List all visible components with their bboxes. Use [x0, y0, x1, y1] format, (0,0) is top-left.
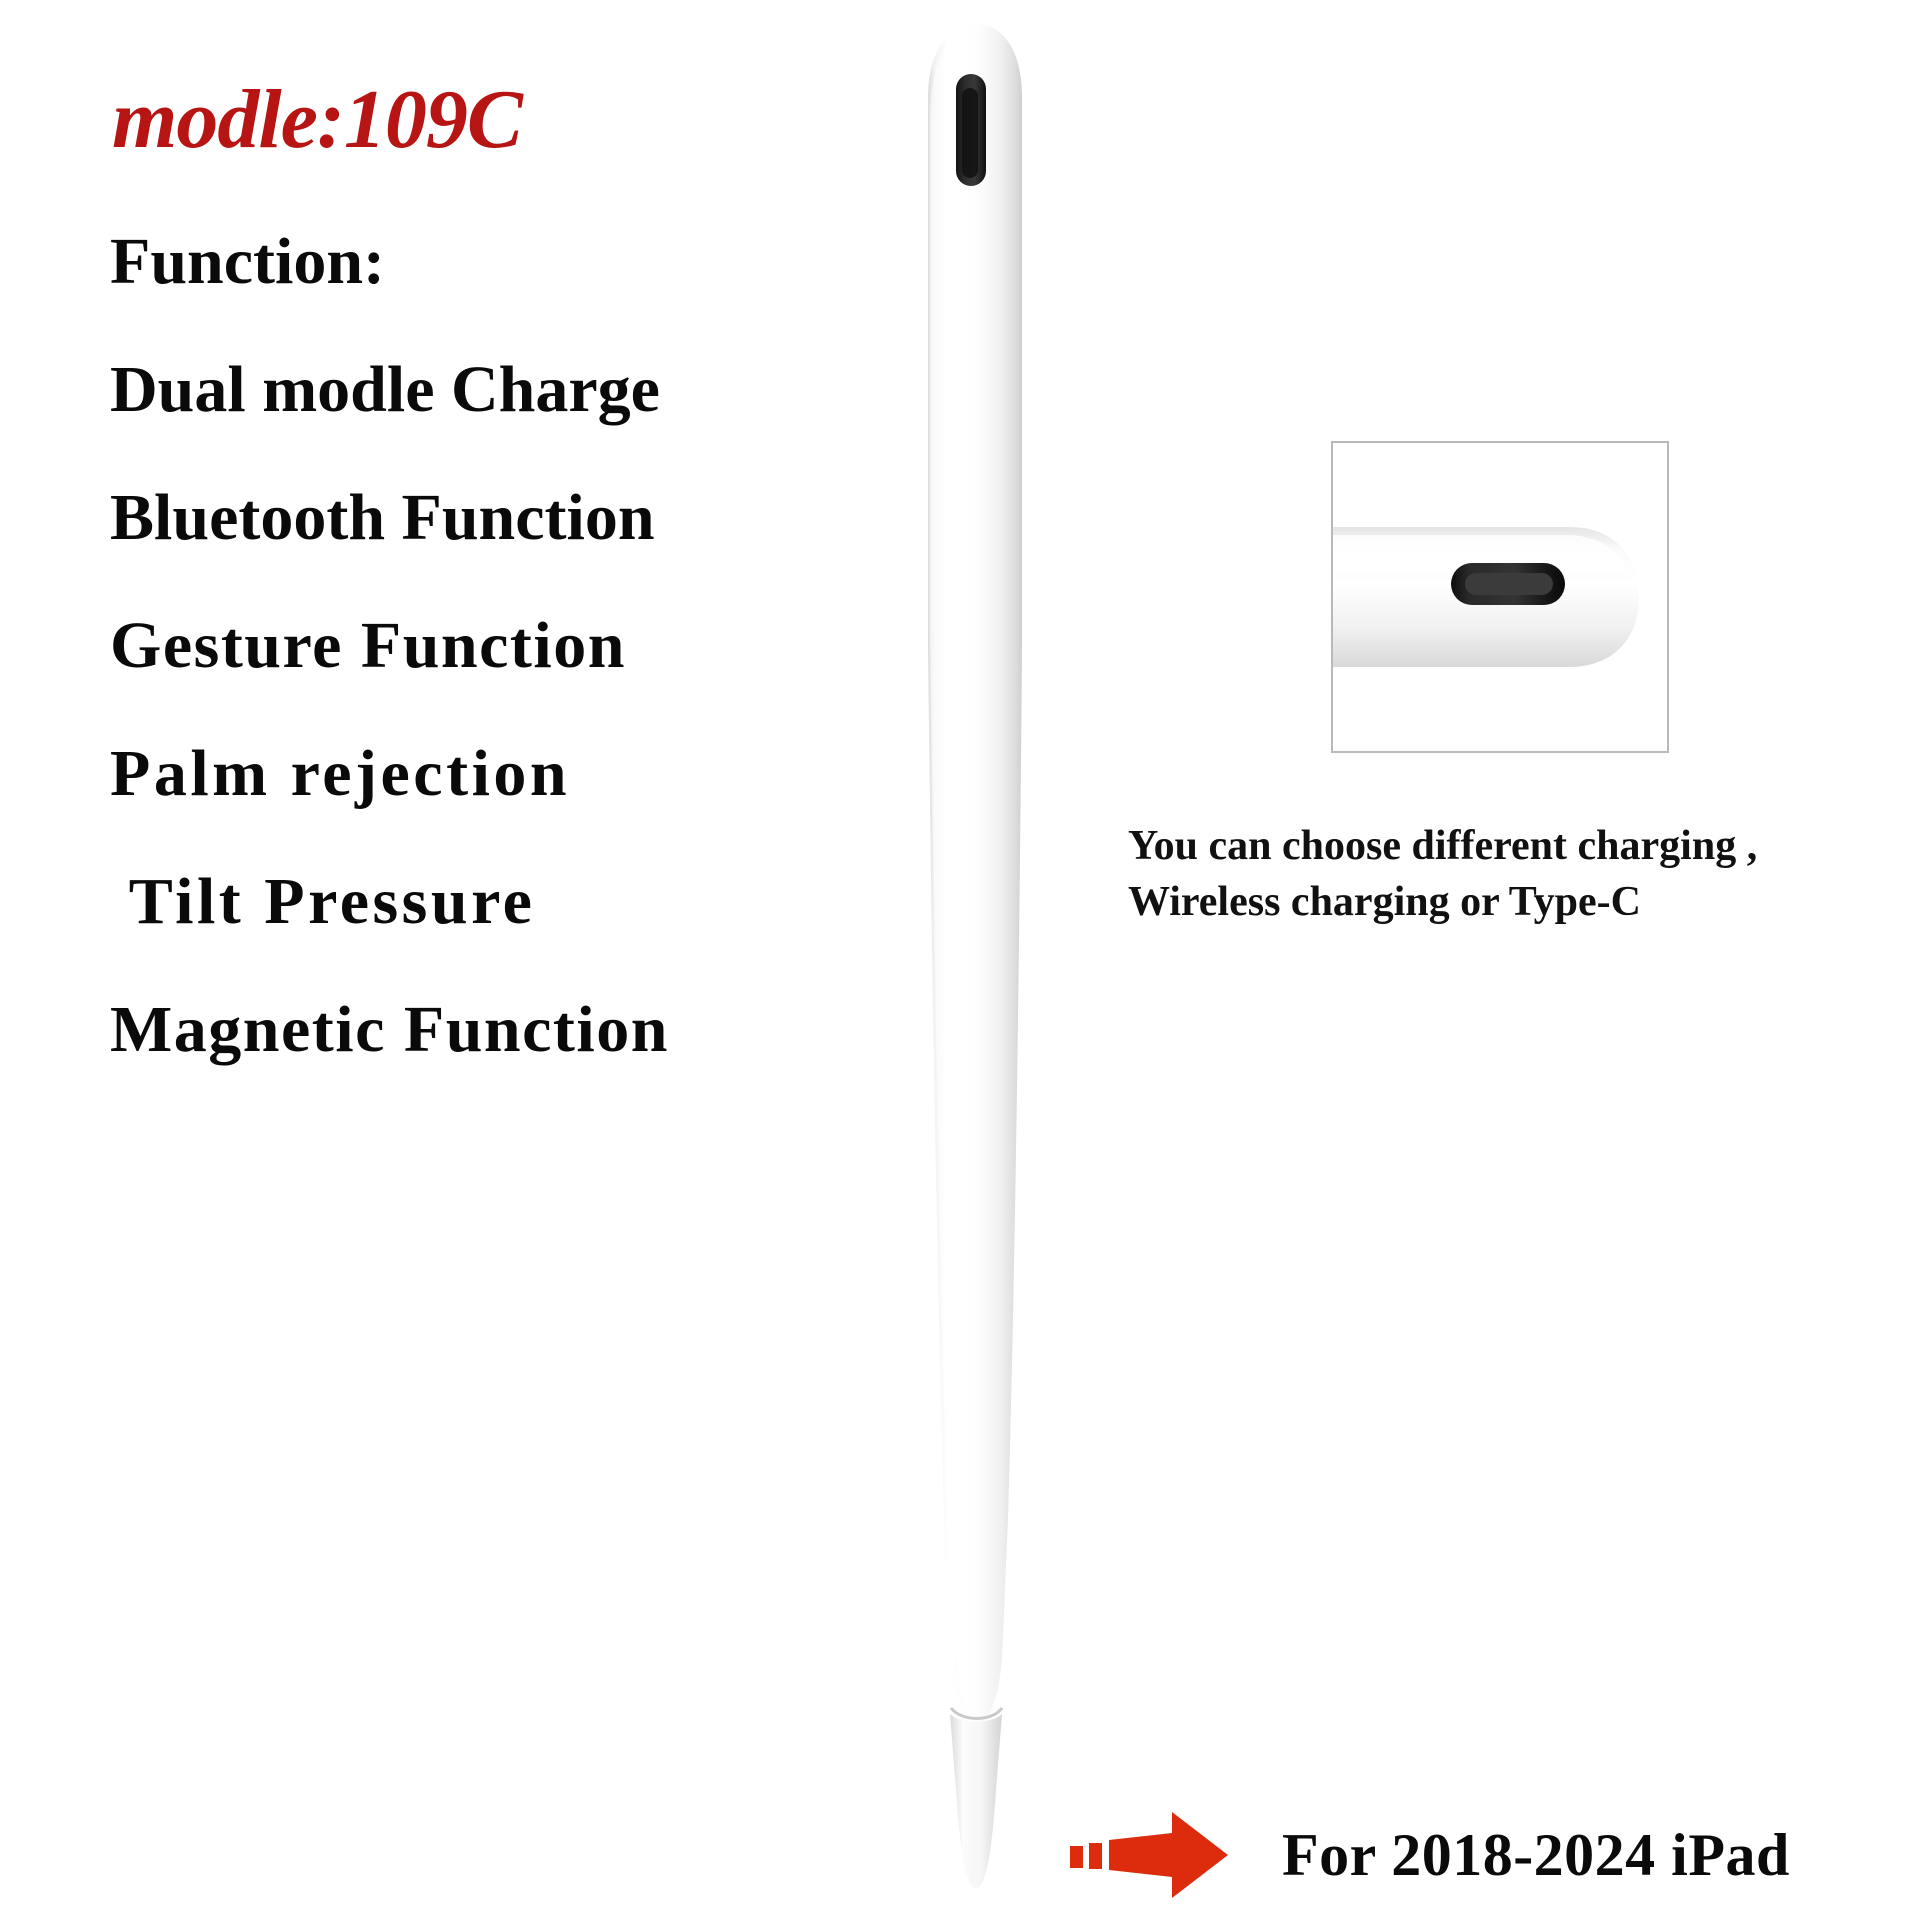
- compatibility-banner: For 2018-2024 iPad: [1068, 1800, 1790, 1910]
- feature-item-palm-rejection: Palm rejection: [110, 738, 830, 810]
- feature-item-tilt-pressure: Tilt Pressure: [110, 866, 830, 938]
- feature-item-bluetooth-function: Bluetooth Function: [110, 482, 830, 554]
- arrow-dash-1: [1070, 1846, 1083, 1868]
- charging-caption-line-1: You can choose different charging ,: [1128, 818, 1920, 874]
- feature-item-gesture-function: Gesture Function: [110, 610, 830, 682]
- feature-list: Function: Dual modle Charge Bluetooth Fu…: [110, 226, 830, 1122]
- charging-caption: You can choose different charging , Wire…: [1128, 818, 1920, 930]
- compatibility-text: For 2018-2024 iPad: [1282, 1820, 1790, 1890]
- inset-type-c-port-inner: [1465, 573, 1553, 595]
- feature-item-dual-modle-charge: Dual modle Charge: [110, 354, 830, 426]
- arrow-head: [1109, 1812, 1228, 1898]
- charging-port-closeup-box: [1331, 441, 1669, 753]
- type-c-port-inner: [962, 88, 978, 178]
- arrow-dash-2: [1089, 1843, 1102, 1869]
- pen-highlight: [930, 26, 968, 1708]
- pen-nib: [950, 1714, 1002, 1888]
- feature-heading: Function:: [110, 226, 830, 298]
- feature-item-magnetic-function: Magnetic Function: [110, 994, 830, 1066]
- stylus-pen-image: [890, 8, 1080, 1908]
- right-arrow-icon: [1068, 1800, 1268, 1910]
- model-title: modle:109C: [112, 72, 522, 168]
- charging-caption-line-2: Wireless charging or Type-C: [1128, 874, 1920, 930]
